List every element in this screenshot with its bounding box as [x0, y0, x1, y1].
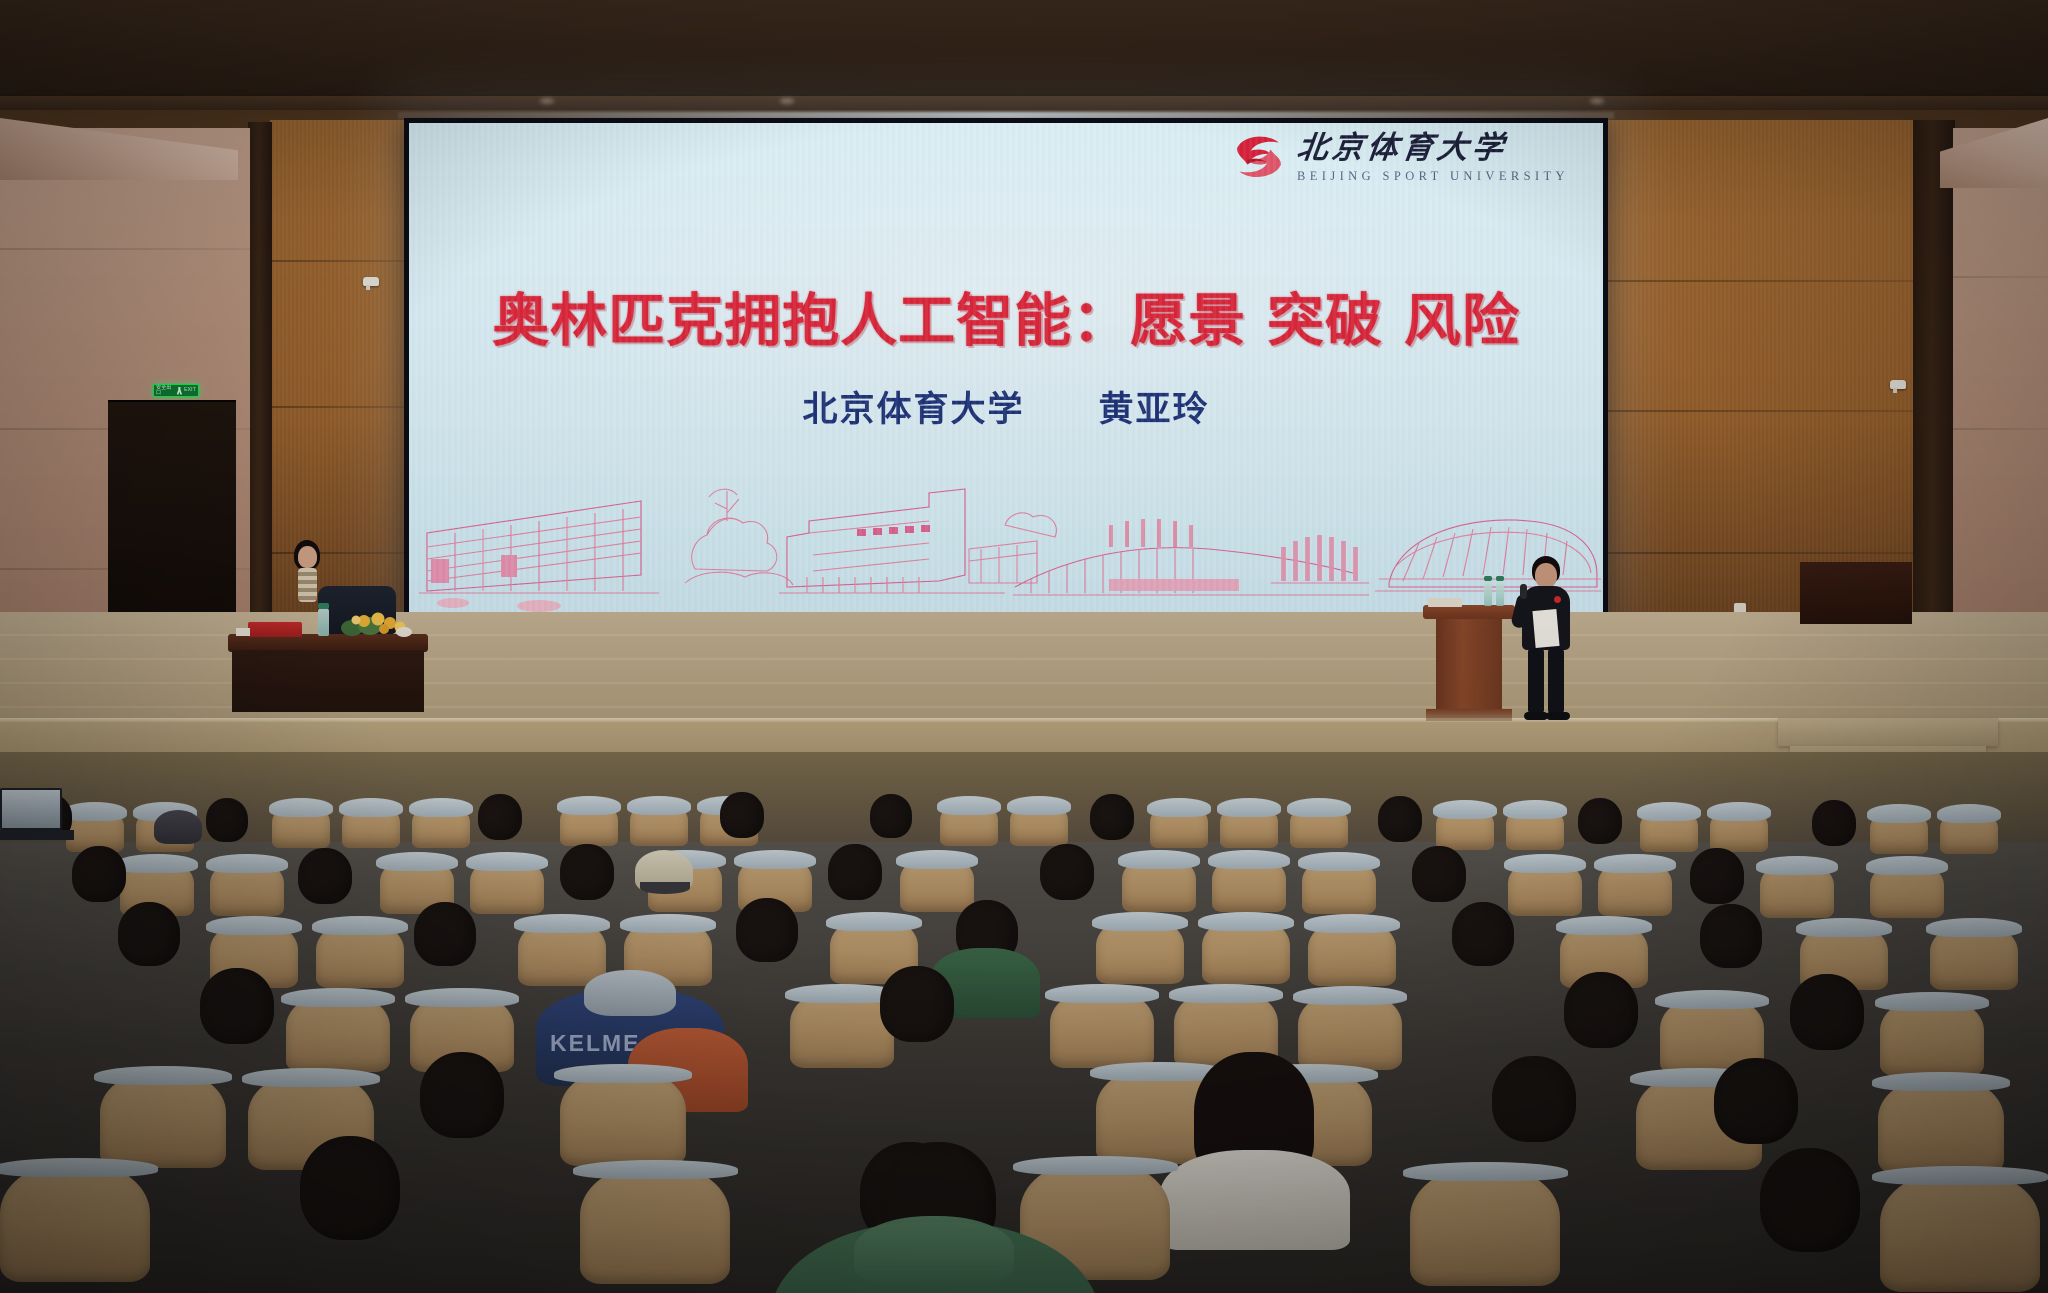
- seat: [470, 858, 544, 914]
- seat: [630, 802, 688, 846]
- slide-subtitle: 北京体育大学 黄亚玲: [409, 381, 1603, 432]
- seat: [316, 922, 404, 988]
- seat: [1410, 1168, 1560, 1286]
- audience-head: [1690, 848, 1744, 904]
- moderator-head: [298, 546, 317, 568]
- bsu-swirl-icon: [1230, 131, 1288, 183]
- audience-head: [1564, 972, 1638, 1048]
- podium-base: [1426, 709, 1512, 721]
- podium-water-bottle-2: [1496, 580, 1504, 606]
- seat: [412, 804, 470, 848]
- seat: [1508, 860, 1582, 916]
- audience-head: [1452, 902, 1514, 966]
- seat: [1308, 920, 1396, 986]
- seat: [1930, 924, 2018, 990]
- auditorium-scene: 安全出口 EXIT 北京体育大学 BEIJING SPORT UNIVERSIT…: [0, 0, 2048, 1293]
- rear-cabinet: [1800, 562, 1912, 624]
- seat: [940, 802, 998, 846]
- exit-sign-left: 安全出口 EXIT: [153, 384, 199, 397]
- moderator-scarf: [298, 568, 317, 602]
- audience-head: [870, 794, 912, 838]
- podium-papers: [1428, 598, 1462, 607]
- audience-head: [1578, 798, 1622, 844]
- podium-top: [1423, 605, 1515, 619]
- head-table-body: [232, 650, 424, 712]
- seat: [1212, 856, 1286, 912]
- kelme-brand-text: KELME: [550, 1030, 641, 1057]
- seat: [272, 804, 330, 848]
- audience-head: [118, 902, 180, 966]
- audience-head: [1812, 800, 1856, 846]
- wall-panel-far-right: [1953, 128, 2048, 628]
- seat: [286, 994, 390, 1072]
- khaki-cap: [154, 810, 202, 844]
- laptop-base: [0, 830, 74, 840]
- audience-head: [478, 794, 522, 840]
- audience-head: [1412, 846, 1466, 902]
- presenter-papers: [1532, 609, 1559, 648]
- presenter-shoe-left: [1524, 712, 1548, 720]
- audience-head: [828, 844, 882, 900]
- audience-head: [72, 846, 126, 902]
- seat: [1870, 810, 1928, 854]
- seat: [1870, 862, 1944, 918]
- seat: [1298, 992, 1402, 1070]
- university-logo: 北京体育大学 BEIJING SPORT UNIVERSITY: [1230, 131, 1569, 183]
- stage-step-upper: [1778, 718, 1998, 746]
- seat: [1436, 806, 1494, 850]
- security-camera-left: [363, 277, 379, 286]
- projection-screen-frame: 北京体育大学 BEIJING SPORT UNIVERSITY 奥林匹克拥抱人工…: [404, 118, 1608, 618]
- seat: [1202, 918, 1290, 984]
- seat: [1050, 990, 1154, 1068]
- green-hoodie-collar: [854, 1216, 1014, 1286]
- seat: [560, 802, 618, 846]
- white-jacket: [1160, 1150, 1350, 1250]
- seat: [1880, 998, 1984, 1076]
- seat: [1506, 806, 1564, 850]
- presenter-leg-right: [1548, 648, 1564, 714]
- audience-head: [720, 792, 764, 838]
- seat: [560, 1070, 686, 1166]
- seat: [1940, 810, 1998, 854]
- exit-running-man-icon: [177, 387, 182, 395]
- audience-head: [420, 1052, 504, 1138]
- seat: [518, 920, 606, 986]
- audience-head: [414, 902, 476, 966]
- audience-head: [1090, 794, 1134, 840]
- audience-head: [200, 968, 274, 1044]
- cream-cap-rear-brim: [640, 882, 690, 894]
- head-table-flowers: [340, 604, 414, 638]
- presenter-head: [1535, 563, 1557, 588]
- campus-skyline-illustration: [409, 463, 1603, 613]
- presenter-leg-left: [1528, 648, 1544, 714]
- presenter-shoe-right: [1546, 712, 1570, 720]
- slide-title: 奥林匹克拥抱人工智能：愿景 突破 风险: [409, 275, 1603, 357]
- seat: [1710, 808, 1768, 852]
- presenter-microphone: [1520, 584, 1527, 599]
- podium-bottle-cap-2: [1496, 576, 1504, 581]
- seat: [1010, 802, 1068, 846]
- seat: [1640, 808, 1698, 852]
- wall-column-left: [248, 122, 272, 622]
- seat: [1220, 804, 1278, 848]
- seat: [580, 1166, 730, 1284]
- seat: [790, 990, 894, 1068]
- audience-head: [298, 848, 352, 904]
- kelme-hood: [584, 970, 676, 1016]
- seat: [1760, 862, 1834, 918]
- seat: [1302, 858, 1376, 914]
- rear-doorway: [108, 400, 236, 615]
- audience-head: [1378, 796, 1422, 842]
- projection-screen: 北京体育大学 BEIJING SPORT UNIVERSITY 奥林匹克拥抱人工…: [409, 123, 1603, 613]
- seat: [342, 804, 400, 848]
- exit-sign-label-en: EXIT: [184, 388, 196, 393]
- seat: [0, 1164, 150, 1282]
- moderator: [280, 540, 336, 640]
- podium-body: [1436, 619, 1502, 709]
- audience-head: [560, 844, 614, 900]
- exit-sign-label-cn: 安全出口: [156, 386, 175, 396]
- laptop-screen: [0, 788, 62, 830]
- head-table-paper: [236, 628, 250, 636]
- audience-head: [1492, 1056, 1576, 1142]
- logo-english-name: BEIJING SPORT UNIVERSITY: [1297, 170, 1569, 183]
- audience-head: [1040, 844, 1094, 900]
- seat: [900, 856, 974, 912]
- seat: [1880, 1172, 2040, 1292]
- audience-area: KELME: [0, 752, 2048, 1293]
- logo-chinese-name: 北京体育大学: [1295, 132, 1571, 163]
- podium-bottle-cap-1: [1484, 576, 1492, 581]
- wall-column-right: [1913, 120, 1955, 620]
- seat: [1598, 860, 1672, 916]
- audience-head: [880, 966, 954, 1042]
- wall-panel-right: [1608, 120, 1918, 620]
- audience-head: [206, 798, 248, 842]
- presenter: [1512, 556, 1582, 722]
- audience-head: [1760, 1148, 1860, 1252]
- security-camera-right: [1890, 380, 1906, 389]
- audience-head: [1700, 904, 1762, 968]
- audience-head: [1790, 974, 1864, 1050]
- seat: [100, 1072, 226, 1168]
- seat: [210, 860, 284, 916]
- seat: [1290, 804, 1348, 848]
- presenter-badge: [1554, 596, 1561, 603]
- seat: [1096, 918, 1184, 984]
- seat: [1878, 1078, 2004, 1174]
- podium-water-bottle-1: [1484, 580, 1492, 606]
- audience-head: [736, 898, 798, 962]
- seat: [1150, 804, 1208, 848]
- seat: [1122, 856, 1196, 912]
- audience-head: [300, 1136, 400, 1240]
- audience-head: [1714, 1058, 1798, 1144]
